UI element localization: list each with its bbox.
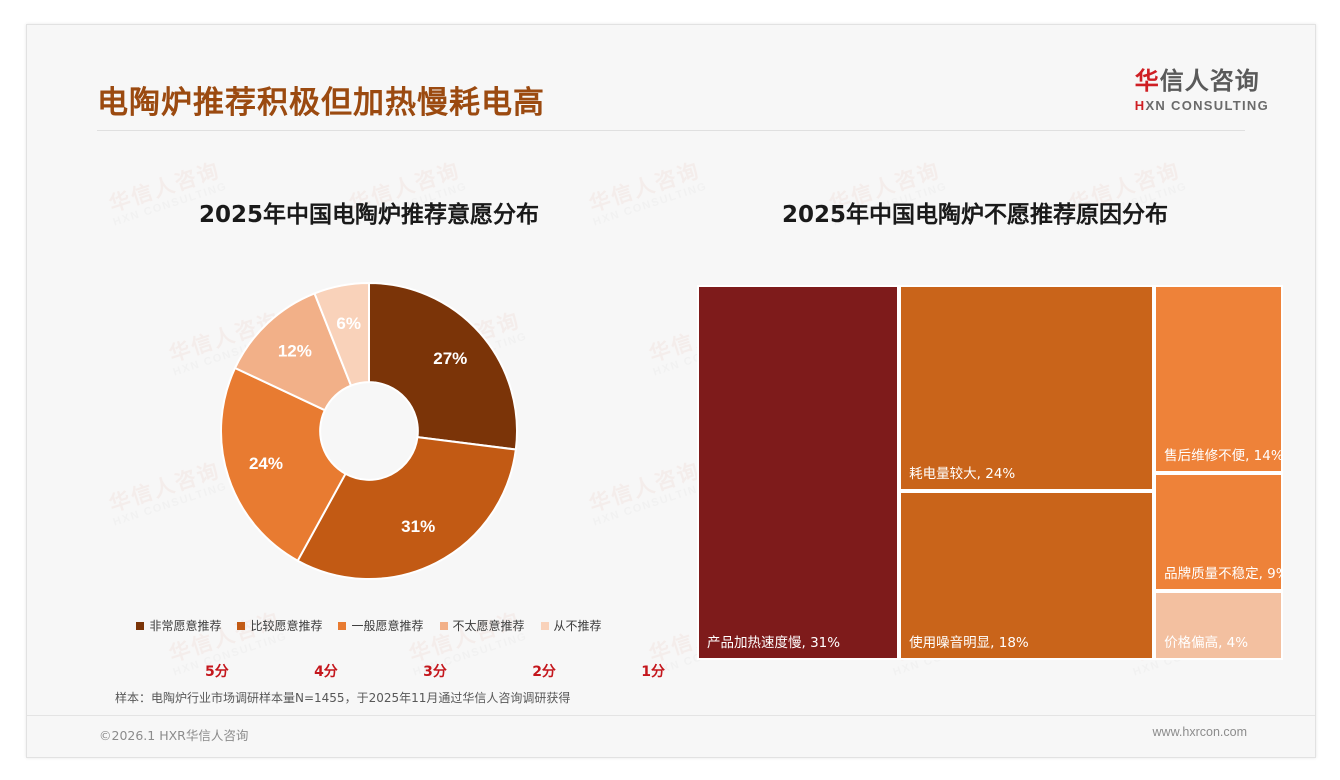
legend-item-label: 比较愿意推荐 [250,617,322,634]
legend-item-label: 一般愿意推荐 [351,617,423,634]
legend-item[interactable]: 不太愿意推荐 [440,617,525,634]
title-divider [97,130,1245,131]
legend-swatch-icon [541,622,549,630]
legend-item[interactable]: 从不推荐 [541,617,602,634]
treemap-cell-label: 产品加热速度慢, 31% [707,631,840,651]
score-label: 1分 [641,661,665,681]
logo-en-rest: XN CONSULTING [1145,98,1269,113]
logo-english-text: HXN CONSULTING [1135,98,1269,113]
score-label: 2分 [532,661,556,681]
donut-slice-label: 24% [249,454,283,473]
donut-slice[interactable] [298,437,516,579]
donut-slice-label: 6% [336,314,361,333]
unwilling-reason-panel: 2025年中国电陶炉不愿推荐原因分布 产品加热速度慢, 31%耗电量较大, 24… [675,175,1275,705]
treemap-cell-label: 使用噪音明显, 18% [909,631,1029,651]
donut-slice-label: 31% [401,517,435,536]
legend-swatch-icon [136,622,144,630]
treemap-chart: 产品加热速度慢, 31%耗电量较大, 24%使用噪音明显, 18%售后维修不便,… [697,285,1283,660]
donut-chart: 27%31%24%12%6% [89,229,649,619]
treemap-cell[interactable]: 使用噪音明显, 18% [899,491,1154,660]
treemap-cell[interactable]: 耗电量较大, 24% [899,285,1154,491]
footer-divider [27,715,1315,716]
donut-slice-group [221,283,517,579]
website-url: www.hxrcon.com [1153,725,1247,739]
score-label: 4分 [314,661,338,681]
treemap-cell[interactable]: 产品加热速度慢, 31% [697,285,899,660]
donut-slice-label: 12% [278,342,312,361]
treemap-cell-label: 售后维修不便, 14% [1164,444,1283,464]
treemap-cell[interactable]: 价格偏高, 4% [1154,591,1283,660]
treemap-cell-label: 价格偏高, 4% [1164,631,1248,651]
legend-item[interactable]: 一般愿意推荐 [338,617,423,634]
legend-item-label: 从不推荐 [554,617,602,634]
logo-chinese-text: 华信人咨询 [1135,67,1269,95]
legend-item-label: 不太愿意推荐 [453,617,525,634]
copyright-text: ©2026.1 HXR华信人咨询 [99,725,248,744]
treemap-cell-label: 耗电量较大, 24% [909,462,1015,482]
sample-footnote: 样本：电陶炉行业市场调研样本量N=1455，于2025年11月通过华信人咨询调研… [115,689,570,706]
legend-item[interactable]: 非常愿意推荐 [136,617,221,634]
page-title: 电陶炉推荐积极但加热慢耗电高 [97,77,545,122]
right-chart-title: 2025年中国电陶炉不愿推荐原因分布 [675,195,1275,229]
donut-chart-svg: 27%31%24%12%6% [159,241,579,621]
brand-logo: 华信人咨询 HXN CONSULTING [1135,67,1269,113]
legend-item-label: 非常愿意推荐 [149,617,221,634]
logo-en-accent: H [1135,98,1146,113]
legend-swatch-icon [237,622,245,630]
treemap-cell[interactable]: 售后维修不便, 14% [1154,285,1283,473]
left-chart-title: 2025年中国电陶炉推荐意愿分布 [89,195,649,229]
legend-swatch-icon [338,622,346,630]
score-scale-row: 5分4分3分2分1分 [205,661,665,681]
logo-accent-char: 华 [1135,67,1160,95]
slide-canvas: 华信人咨询HXN CONSULTING华信人咨询HXN CONSULTING华信… [26,24,1316,758]
score-label: 5分 [205,661,229,681]
donut-legend: 非常愿意推荐比较愿意推荐一般愿意推荐不太愿意推荐从不推荐 [89,617,649,634]
score-label: 3分 [423,661,447,681]
donut-slice-label: 27% [433,349,467,368]
treemap-cell-label: 品牌质量不稳定, 9% [1164,562,1283,582]
slide-header: 电陶炉推荐积极但加热慢耗电高 华信人咨询 HXN CONSULTING [27,25,1315,123]
legend-swatch-icon [440,622,448,630]
treemap-cell[interactable]: 品牌质量不稳定, 9% [1154,473,1283,591]
legend-item[interactable]: 比较愿意推荐 [237,617,322,634]
recommendation-willingness-panel: 2025年中国电陶炉推荐意愿分布 27%31%24%12%6% 非常愿意推荐比较… [89,175,649,705]
logo-rest-chars: 信人咨询 [1160,67,1260,95]
